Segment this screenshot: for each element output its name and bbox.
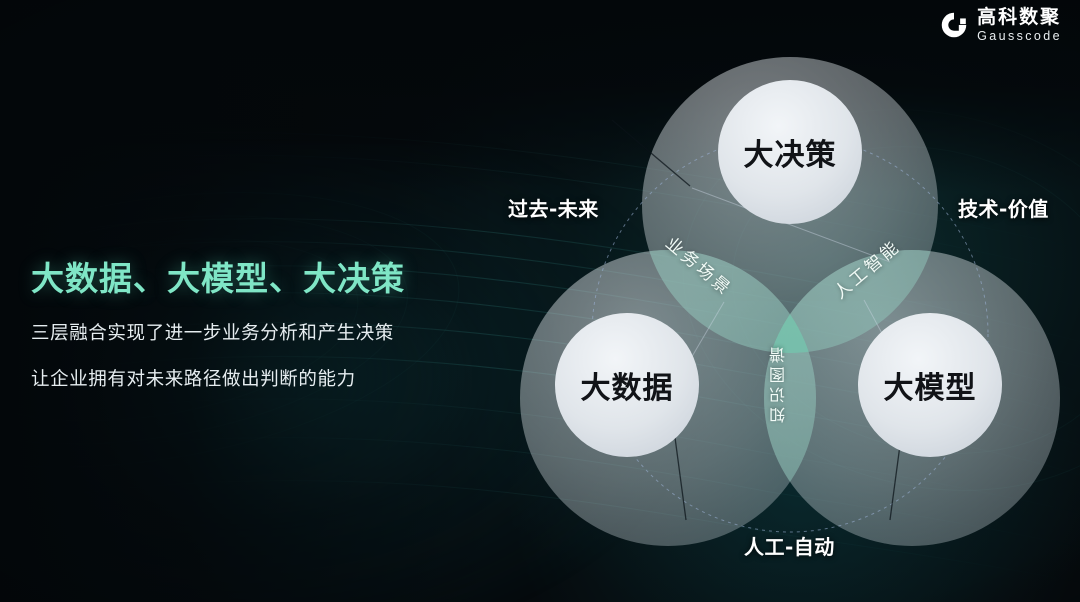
page-title: 大数据、大模型、大决策 bbox=[31, 252, 405, 300]
venn-label-bigdata: 大数据 bbox=[581, 363, 674, 407]
axis-label-right: 技术-价值 bbox=[958, 193, 1049, 222]
logo-wordmark: 高科数聚 Gausscode bbox=[977, 8, 1062, 43]
logo-chinese-name: 高科数聚 bbox=[977, 8, 1062, 27]
headline-block: 大数据、大模型、大决策 三层融合实现了进一步业务分析和产生决策 让企业拥有对未来… bbox=[31, 252, 405, 391]
gausscode-ring-logo-icon bbox=[940, 11, 968, 39]
axis-label-left: 过去-未来 bbox=[508, 193, 599, 222]
venn-label-kg: 知识图谱 bbox=[767, 343, 791, 423]
brand-logo: 高科数聚 Gausscode bbox=[940, 8, 1062, 43]
axis-label-bottom: 人工-自动 bbox=[744, 531, 835, 560]
venn-label-bigmodel: 大模型 bbox=[884, 363, 977, 407]
logo-english-name: Gausscode bbox=[977, 30, 1062, 43]
subtitle-line-1: 三层融合实现了进一步业务分析和产生决策 bbox=[31, 319, 405, 345]
subtitle-line-2: 让企业拥有对未来路径做出判断的能力 bbox=[31, 365, 405, 391]
venn-diagram bbox=[460, 0, 1080, 602]
venn-label-decision: 大决策 bbox=[744, 130, 837, 174]
slide-canvas: 高科数聚 Gausscode 大数据、大模型、大决策 三层融合实现了进一步业务分… bbox=[0, 0, 1080, 602]
